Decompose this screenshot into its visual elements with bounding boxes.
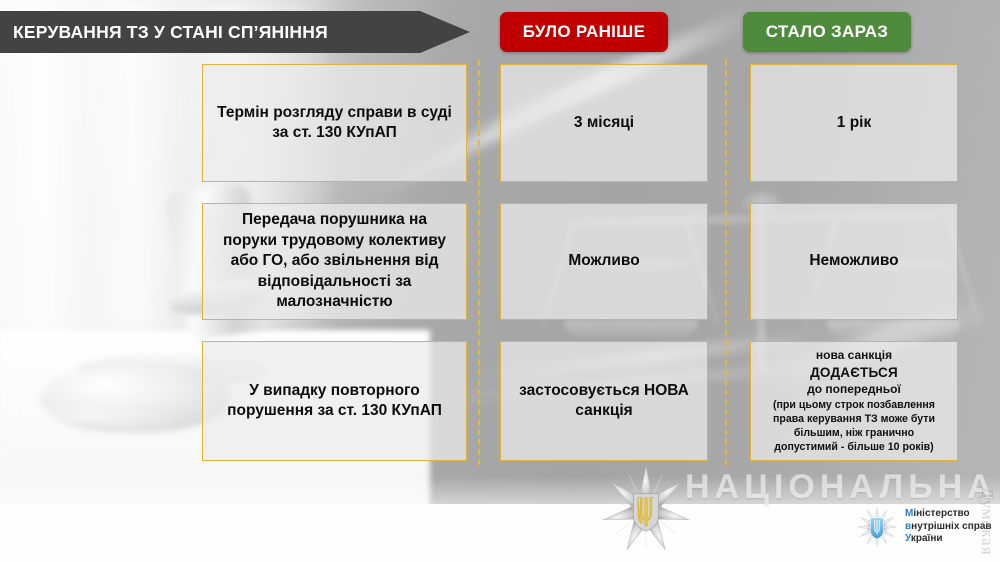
row-2-label-text: Передача порушника на поруки трудовому к…: [213, 210, 456, 312]
row-1-now-cell: 1 рік: [750, 64, 958, 182]
source-watermark: Думская: [977, 487, 997, 556]
column-divider-left: [478, 60, 480, 465]
row-2-before-text: Можливо: [568, 251, 639, 271]
row-2-before-cell: Можливо: [500, 203, 708, 320]
row-3-now-detail: нова санкція ДОДАЄТЬСЯ до попередньої (п…: [761, 348, 947, 454]
row-3-now-note: (при цьому строк позбавлення права керув…: [761, 398, 947, 454]
column-header-now-label: СТАЛО ЗАРАЗ: [766, 22, 889, 42]
row-1-now-text: 1 рік: [837, 113, 871, 133]
mvs-line-3-rest: країни: [911, 533, 943, 544]
mvs-shield-icon: [856, 506, 898, 548]
row-3-now-line3: до попередньої: [761, 382, 947, 398]
national-police-watermark: НАЦІОНАЛЬНА: [685, 468, 997, 507]
column-header-before-label: БУЛО РАНІШЕ: [523, 22, 645, 42]
row-2-now-cell: Неможливо: [750, 203, 958, 320]
row-3-now-cell: нова санкція ДОДАЄТЬСЯ до попередньої (п…: [750, 341, 958, 461]
row-1-before-cell: 3 місяці: [500, 64, 708, 182]
row-3-label-cell: У випадку повторного порушення за ст. 13…: [202, 341, 467, 461]
column-divider-right: [725, 60, 727, 465]
row-3-before-cell: застосовується НОВА санкція: [500, 341, 708, 461]
slide-title-banner: КЕРУВАННЯ ТЗ У СТАНІ СП’ЯНІННЯ: [0, 11, 470, 53]
row-1-label-cell: Термін розгляду справи в суді за ст. 130…: [202, 64, 467, 182]
row-3-now-line1: нова санкція: [761, 348, 947, 364]
slide-root: КЕРУВАННЯ ТЗ У СТАНІ СП’ЯНІННЯ БУЛО РАНІ…: [0, 0, 1000, 562]
row-1-label-text: Термін розгляду справи в суді за ст. 130…: [213, 103, 456, 144]
row-2-label-cell: Передача порушника на поруки трудовому к…: [202, 203, 467, 320]
page-title: КЕРУВАННЯ ТЗ У СТАНІ СП’ЯНІННЯ: [0, 22, 328, 43]
mvs-line-1-rest: іністерство: [913, 508, 969, 519]
column-header-now: СТАЛО ЗАРАЗ: [743, 12, 911, 52]
mvs-logo: Міністерство внутрішніх справ України: [856, 506, 992, 548]
row-3-now-line2: ДОДАЄТЬСЯ: [761, 364, 947, 382]
police-star-badge-icon: [598, 462, 694, 558]
row-2-now-text: Неможливо: [809, 251, 898, 271]
row-1-before-text: 3 місяці: [574, 113, 634, 133]
column-header-before: БУЛО РАНІШЕ: [500, 12, 668, 52]
background-bottom-strip: [0, 504, 1000, 562]
row-3-before-text: застосовується НОВА санкція: [511, 381, 697, 422]
row-3-label-text: У випадку повторного порушення за ст. 13…: [213, 381, 456, 422]
